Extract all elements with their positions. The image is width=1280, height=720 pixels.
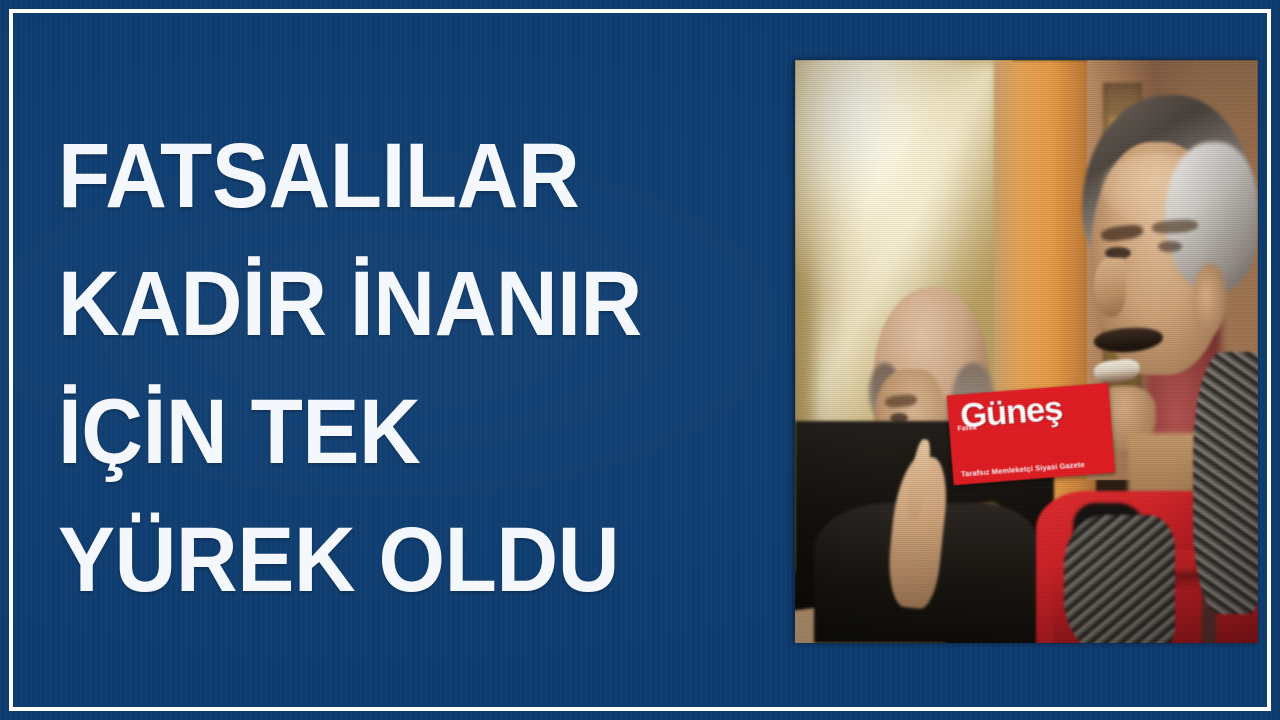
person-right-scarf	[1193, 352, 1258, 614]
headline-line-2: KADİR İNANIR	[58, 240, 737, 368]
headline-line-4: YÜREK OLDU	[58, 496, 737, 624]
news-poster: FATSALILAR KADİR İNANIR İÇİN TEK YÜREK O…	[0, 0, 1280, 720]
headline-line-1: FATSALILAR	[58, 112, 737, 240]
gunes-watermark-logo: Fatsa Güneş Tarafsız Memleketçi Siyasi G…	[947, 383, 1116, 486]
person-right-nose	[1094, 258, 1126, 316]
news-photo: Fatsa Güneş Tarafsız Memleketçi Siyasi G…	[795, 60, 1258, 643]
headline-line-3: İÇİN TEK	[58, 368, 737, 496]
photo-content: Fatsa Güneş Tarafsız Memleketçi Siyasi G…	[795, 60, 1258, 643]
person-right-ear	[1193, 264, 1225, 334]
logo-tagline: Tarafsız Memleketçi Siyasi Gazete	[961, 460, 1085, 479]
person-right-scarf-front	[1064, 515, 1175, 643]
person-right-eye-right	[1158, 241, 1181, 253]
headline: FATSALILAR KADİR İNANIR İÇİN TEK YÜREK O…	[58, 112, 788, 624]
